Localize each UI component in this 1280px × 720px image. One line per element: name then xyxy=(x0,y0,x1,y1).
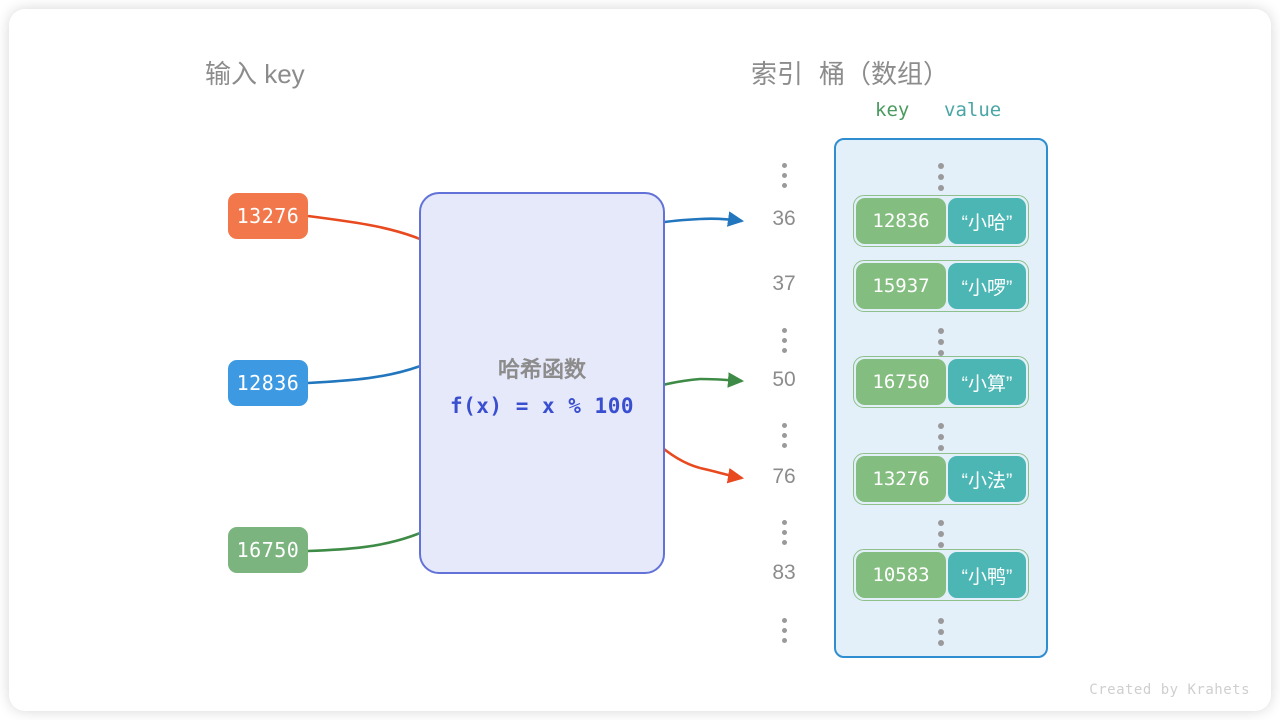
column-heading-key: key xyxy=(875,99,909,121)
bucket-entry-key: 10583 xyxy=(856,552,946,598)
bucket-entry-value: “小鸭” xyxy=(948,552,1026,598)
column-heading-value: value xyxy=(944,99,1001,121)
bucket-entry-key: 13276 xyxy=(856,456,946,502)
index-label: 37 xyxy=(762,272,806,296)
index-label: 36 xyxy=(762,207,806,231)
credit-text: Created by Krahets xyxy=(1089,682,1250,698)
input-key-chip[interactable]: 13276 xyxy=(228,193,308,239)
input-key-chip[interactable]: 12836 xyxy=(228,360,308,406)
bucket-entry[interactable]: 16750“小算” xyxy=(853,356,1029,408)
column-heading-index: 索引 xyxy=(751,54,803,91)
column-heading-input: 输入 key xyxy=(205,54,305,91)
input-key-chip[interactable]: 16750 xyxy=(228,527,308,573)
bucket-entry[interactable]: 13276“小法” xyxy=(853,453,1029,505)
bucket-array: 12836“小哈”15937“小啰”16750“小算”13276“小法”1058… xyxy=(834,138,1048,658)
bucket-entry[interactable]: 15937“小啰” xyxy=(853,260,1029,312)
bucket-entry[interactable]: 12836“小哈” xyxy=(853,195,1029,247)
index-ellipsis-icon xyxy=(762,323,806,358)
bucket-entry-value: “小啰” xyxy=(948,263,1026,309)
index-label: 83 xyxy=(762,561,806,585)
bucket-entry-value: “小哈” xyxy=(948,198,1026,244)
bucket-entry-value: “小法” xyxy=(948,456,1026,502)
bucket-entry[interactable]: 10583“小鸭” xyxy=(853,549,1029,601)
bucket-ellipsis-icon xyxy=(931,418,951,456)
bucket-ellipsis-icon xyxy=(931,515,951,553)
diagram-stage: 输入 key 索引 桶（数组） key value 13276 12836 16… xyxy=(0,0,1280,720)
index-ellipsis-icon xyxy=(762,613,806,648)
bucket-entry-key: 16750 xyxy=(856,359,946,405)
bucket-ellipsis-icon xyxy=(931,158,951,196)
hash-function-formula: f(x) = x % 100 xyxy=(421,394,663,418)
bucket-entry-value: “小算” xyxy=(948,359,1026,405)
bucket-entry-key: 15937 xyxy=(856,263,946,309)
index-label: 50 xyxy=(762,368,806,392)
index-ellipsis-icon xyxy=(762,515,806,550)
bucket-entry-key: 12836 xyxy=(856,198,946,244)
index-ellipsis-icon xyxy=(762,158,806,193)
hash-function-box: 哈希函数 f(x) = x % 100 xyxy=(419,192,665,574)
column-heading-bucket: 桶（数组） xyxy=(819,54,949,91)
index-label: 76 xyxy=(762,465,806,489)
index-ellipsis-icon xyxy=(762,418,806,453)
bucket-ellipsis-icon xyxy=(931,613,951,651)
hash-function-title: 哈希函数 xyxy=(421,352,663,384)
